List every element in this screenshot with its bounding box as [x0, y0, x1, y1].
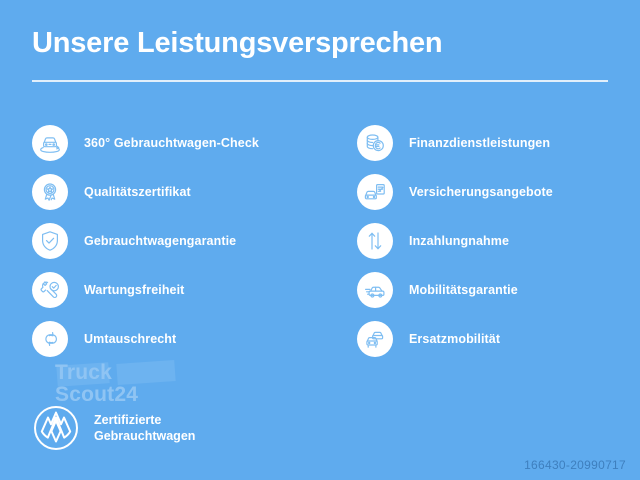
- car-360-check-icon: [32, 125, 68, 161]
- watermark-line-2: Scout24: [55, 384, 138, 406]
- brand-line-2: Gebrauchtwagen: [94, 428, 195, 444]
- feature-label: Finanzdienstleistungen: [409, 136, 550, 150]
- feature-label: Wartungsfreiheit: [84, 283, 184, 297]
- listing-reference-code: 166430-20990717: [524, 458, 626, 472]
- feature-item: Umtauschrecht: [32, 314, 332, 363]
- feature-item: Ersatzmobilität: [357, 314, 627, 363]
- feature-label: Umtauschrecht: [84, 332, 176, 346]
- watermark-text: Truck Scout24: [55, 362, 138, 406]
- promo-banner: Unsere Leistungsversprechen: [0, 0, 640, 480]
- feature-label: Versicherungsangebote: [409, 185, 553, 199]
- brand-block: Zertifizierte Gebrauchtwagen: [32, 404, 195, 452]
- feature-item: Wartungsfreiheit: [32, 265, 332, 314]
- features-column-left: 360° Gebrauchtwagen-Check Qualitätszerti…: [32, 118, 332, 363]
- feature-item: Gebrauchtwagengarantie: [32, 216, 332, 265]
- wrench-check-icon: [32, 272, 68, 308]
- feature-item: Versicherungsangebote: [357, 167, 627, 216]
- shield-check-icon: [32, 223, 68, 259]
- feature-item: Finanzdienstleistungen: [357, 118, 627, 167]
- feature-item: Inzahlungnahme: [357, 216, 627, 265]
- feature-label: Gebrauchtwagengarantie: [84, 234, 236, 248]
- brand-line-1: Zertifizierte: [94, 412, 195, 428]
- award-rosette-icon: [32, 174, 68, 210]
- feature-label: Ersatzmobilität: [409, 332, 500, 346]
- features-grid: 360° Gebrauchtwagen-Check Qualitätszerti…: [0, 118, 640, 363]
- car-document-check-icon: [357, 174, 393, 210]
- truckscout24-watermark: Truck Scout24: [55, 362, 205, 408]
- volkswagen-logo-icon: [32, 404, 80, 452]
- feature-label: Mobilitätsgarantie: [409, 283, 518, 297]
- feature-label: 360° Gebrauchtwagen-Check: [84, 136, 259, 150]
- coins-euro-icon: [357, 125, 393, 161]
- header: Unsere Leistungsversprechen: [32, 28, 608, 82]
- moving-car-icon: [357, 272, 393, 308]
- feature-item: Mobilitätsgarantie: [357, 265, 627, 314]
- feature-item: 360° Gebrauchtwagen-Check: [32, 118, 332, 167]
- two-cars-icon: [357, 321, 393, 357]
- exchange-arrows-icon: [32, 321, 68, 357]
- feature-item: Qualitätszertifikat: [32, 167, 332, 216]
- feature-label: Qualitätszertifikat: [84, 185, 191, 199]
- features-column-right: Finanzdienstleistungen: [357, 118, 627, 363]
- up-down-arrows-icon: [357, 223, 393, 259]
- watermark-line-1: Truck: [55, 362, 138, 384]
- header-divider: [32, 80, 608, 82]
- watermark-chip: [56, 362, 109, 387]
- feature-label: Inzahlungnahme: [409, 234, 509, 248]
- watermark-chip: [116, 360, 175, 385]
- page-title: Unsere Leistungsversprechen: [32, 28, 608, 60]
- brand-text: Zertifizierte Gebrauchtwagen: [94, 412, 195, 444]
